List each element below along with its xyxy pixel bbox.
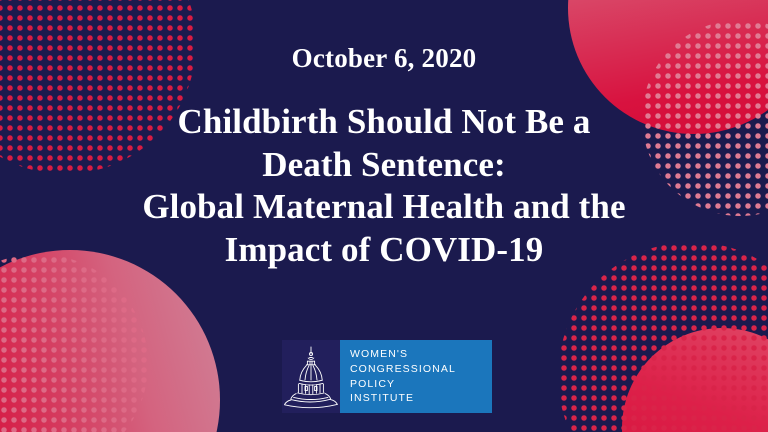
title-line-2: Death Sentence: xyxy=(64,144,704,187)
slide-content: October 6, 2020 Childbirth Should Not Be… xyxy=(0,0,768,432)
title-line-1: Childbirth Should Not Be a xyxy=(64,101,704,144)
title-line-3: Global Maternal Health and the xyxy=(64,186,704,229)
event-date: October 6, 2020 xyxy=(292,45,477,72)
title-line-4: Impact of COVID-19 xyxy=(64,229,704,272)
title-slide: October 6, 2020 Childbirth Should Not Be… xyxy=(0,0,768,432)
page-title: Childbirth Should Not Be a Death Sentenc… xyxy=(64,101,704,272)
